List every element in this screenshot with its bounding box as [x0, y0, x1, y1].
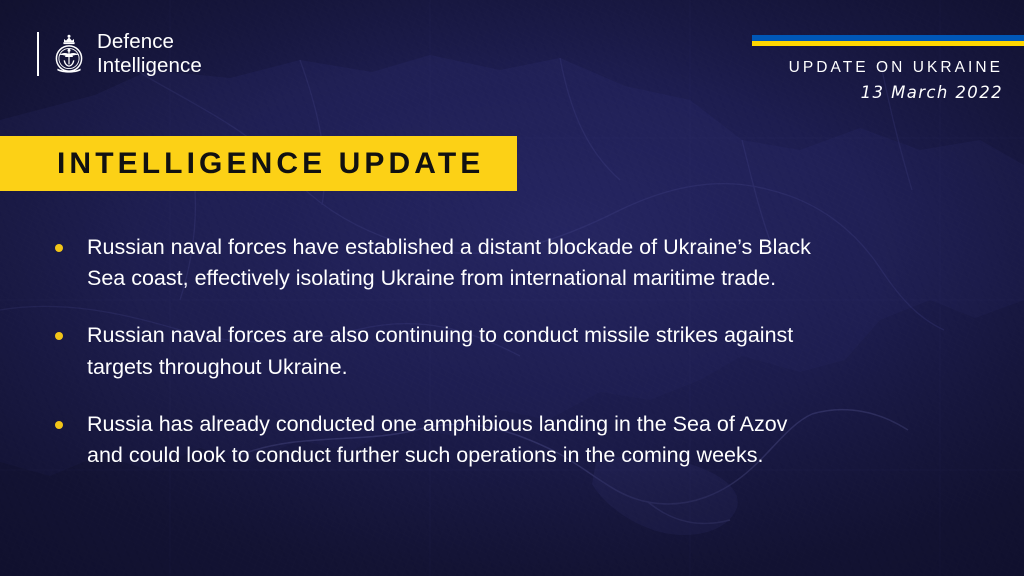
bullet-dot-icon — [55, 244, 63, 252]
bullet-text: Russia has already conducted one amphibi… — [87, 409, 787, 471]
logo-line-intelligence: Intelligence — [97, 54, 202, 78]
bullet-line: Russia has already conducted one amphibi… — [87, 409, 787, 440]
bullet-line: Sea coast, effectively isolating Ukraine… — [87, 263, 811, 294]
header-date: 13 March 2022 — [789, 83, 1003, 103]
list-item: Russian naval forces are also continuing… — [55, 320, 955, 382]
page-title: INTELLIGENCE UPDATE — [57, 149, 484, 179]
bullet-text: Russian naval forces have established a … — [87, 232, 811, 294]
bullet-text: Russian naval forces are also continuing… — [87, 320, 793, 382]
bullet-line: Russian naval forces are also continuing… — [87, 320, 793, 351]
defence-intelligence-logo: Defence Intelligence — [37, 26, 202, 82]
flag-stripe-yellow — [752, 41, 1024, 47]
bullet-line: and could look to conduct further such o… — [87, 440, 787, 471]
list-item: Russian naval forces have established a … — [55, 232, 955, 294]
ukraine-flag-bar-icon — [752, 35, 1024, 46]
defence-intelligence-crest-icon — [52, 31, 86, 77]
bullet-list: Russian naval forces have established a … — [55, 232, 955, 471]
logo-line-defence: Defence — [97, 30, 202, 54]
bullet-line: Russian naval forces have established a … — [87, 232, 811, 263]
list-item: Russia has already conducted one amphibi… — [55, 409, 955, 471]
bullet-dot-icon — [55, 332, 63, 340]
logo-divider-rule — [37, 32, 39, 76]
intelligence-update-banner: INTELLIGENCE UPDATE — [0, 136, 517, 191]
header-kicker: UPDATE ON UKRAINE — [789, 59, 1003, 78]
header-right-block: UPDATE ON UKRAINE 13 March 2022 — [789, 59, 1003, 102]
intelligence-update-slide: Defence Intelligence UPDATE ON UKRAINE 1… — [0, 0, 1024, 576]
bullet-line: targets throughout Ukraine. — [87, 352, 793, 383]
bullet-dot-icon — [55, 421, 63, 429]
logo-wordmark: Defence Intelligence — [97, 30, 202, 78]
